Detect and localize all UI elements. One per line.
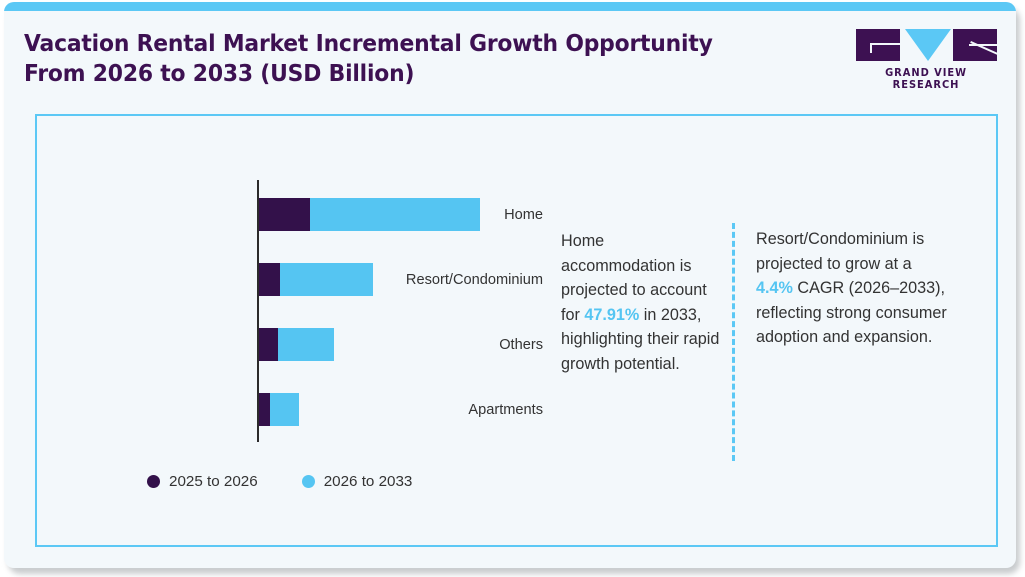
chart-infographic: Vacation Rental Market Incremental Growt… bbox=[0, 0, 1025, 577]
bar-segment-2026-to-2033 bbox=[280, 263, 373, 296]
bar-row: Apartments bbox=[37, 393, 557, 426]
bar-track bbox=[259, 263, 373, 296]
callout-2-highlight: 4.4% bbox=[756, 279, 793, 297]
legend-label: 2025 to 2026 bbox=[169, 473, 258, 490]
logo-square-left-icon bbox=[856, 29, 900, 61]
callout-divider-1 bbox=[732, 223, 735, 461]
callout-2-pre: Resort/Condominium is projected to grow … bbox=[756, 230, 924, 273]
bar-segment-2025-to-2026 bbox=[259, 328, 278, 361]
logo-left-notch-horizontal bbox=[870, 43, 900, 45]
infographic-card: Vacation Rental Market Incremental Growt… bbox=[4, 2, 1016, 568]
bar-track bbox=[259, 393, 299, 426]
legend-item[interactable]: 2026 to 2033 bbox=[302, 473, 413, 490]
chart-legend: 2025 to 20262026 to 2033 bbox=[147, 473, 412, 490]
bar-segment-2025-to-2026 bbox=[259, 393, 270, 426]
bar-segment-2025-to-2026 bbox=[259, 198, 310, 231]
bar-segment-2026-to-2033 bbox=[278, 328, 334, 361]
bar-category-label: Others bbox=[347, 337, 557, 353]
logo-triangle-icon bbox=[905, 29, 951, 61]
bar-segment-2026-to-2033 bbox=[310, 198, 480, 231]
stacked-bar-chart: HomeResort/CondominiumOthersApartments 2… bbox=[37, 116, 557, 549]
callout-home-share: Home accommodation is projected to accou… bbox=[561, 229, 721, 377]
bar-track bbox=[259, 328, 334, 361]
bar-segment-2025-to-2026 bbox=[259, 263, 280, 296]
callout-1-highlight: 47.91% bbox=[584, 306, 639, 324]
content-panel: HomeResort/CondominiumOthersApartments 2… bbox=[35, 114, 998, 547]
logo-square-right-icon bbox=[953, 29, 997, 61]
legend-dot-icon bbox=[147, 475, 160, 488]
legend-label: 2026 to 2033 bbox=[324, 473, 413, 490]
callout-resort-cagr: Resort/Condominium is projected to grow … bbox=[756, 227, 948, 350]
logo-marks bbox=[853, 29, 1001, 61]
bar-row: Home bbox=[37, 198, 557, 231]
brand-logo: GRAND VIEW RESEARCH bbox=[853, 29, 1001, 81]
bar-category-label: Apartments bbox=[347, 402, 557, 418]
bar-segment-2026-to-2033 bbox=[270, 393, 299, 426]
legend-dot-icon bbox=[302, 475, 315, 488]
top-accent-bar bbox=[4, 2, 1016, 11]
logo-wordmark: GRAND VIEW RESEARCH bbox=[855, 67, 997, 91]
page-title: Vacation Rental Market Incremental Growt… bbox=[24, 28, 759, 88]
logo-left-notch-vertical bbox=[870, 43, 872, 53]
bar-track bbox=[259, 198, 480, 231]
legend-item[interactable]: 2025 to 2026 bbox=[147, 473, 258, 490]
bar-category-label: Resort/Condominium bbox=[347, 272, 557, 288]
bar-row: Resort/Condominium bbox=[37, 263, 557, 296]
bar-row: Others bbox=[37, 328, 557, 361]
